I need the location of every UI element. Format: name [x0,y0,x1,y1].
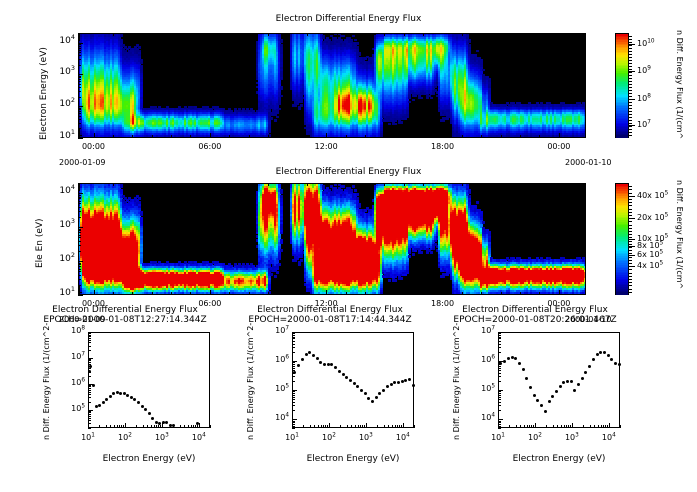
panel-top-ylabel: Electron Energy (eV) [39,47,49,140]
panel-top-title: Electron Differential Energy Flux [0,14,697,24]
panel-top-ylabel-group: Electron Energy (eV) [28,32,42,142]
